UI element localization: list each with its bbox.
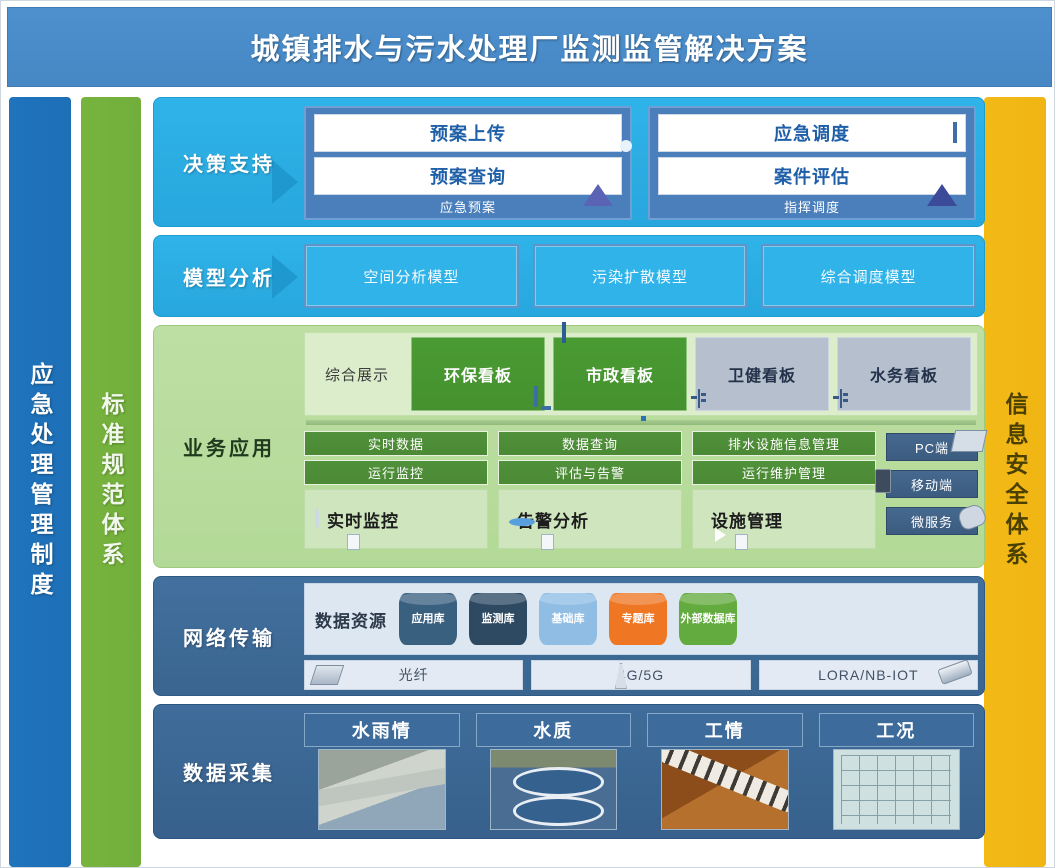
acquisition-card-operating-condition-label: 工况	[819, 713, 975, 747]
pill-realtime-data[interactable]: 实时数据	[304, 431, 488, 456]
pill-assessment-alarm[interactable]: 评估与告警	[498, 460, 682, 485]
window-icon	[562, 324, 566, 342]
document-badge-icon	[735, 534, 748, 550]
acquisition-card-engineering-label: 工情	[647, 713, 803, 747]
terminal-mobile-label: 移动端	[911, 475, 953, 494]
card-realtime-monitoring-label: 实时监控	[327, 507, 399, 532]
lora-icon	[937, 659, 973, 685]
group-command-dispatch: 应急调度 案件评估 指挥调度	[648, 106, 976, 220]
item-emergency-dispatch[interactable]: 应急调度	[658, 114, 966, 152]
globe-icon	[315, 510, 319, 528]
page-title-bar: 城镇排水与污水处理厂监测监管解决方案	[7, 7, 1052, 87]
kanban-environment-label: 环保看板	[444, 362, 512, 386]
kanban-municipal-label: 市政看板	[586, 362, 654, 386]
item-plan-query-label: 预案查询	[430, 163, 506, 189]
grid-icon	[953, 124, 957, 142]
card-realtime-monitoring[interactable]: 实时监控	[304, 489, 488, 549]
pill-drainage-facility-info[interactable]: 排水设施信息管理	[692, 431, 876, 456]
terminal-list: PC端 移动端 微服务	[886, 431, 978, 535]
pipeline-trench-photo	[661, 749, 789, 830]
sidebar-emergency-management: 应急处理管理制度	[9, 97, 71, 867]
architecture-stack: 决策支持 预案上传 预案查询 应急预案 应急调度	[153, 97, 985, 867]
db-basic[interactable]: 基础库	[539, 593, 597, 645]
kanban-health[interactable]: 卫健看板	[695, 337, 829, 411]
item-plan-upload[interactable]: 预案上传	[314, 114, 622, 152]
db-external[interactable]: 外部数据库	[679, 593, 737, 645]
db-application[interactable]: 应用库	[399, 593, 457, 645]
layer-label-decision-support: 决策支持	[154, 98, 304, 226]
biz-column-monitoring: 实时数据 运行监控 实时监控	[304, 431, 488, 549]
terminal-microservice-label: 微服务	[911, 512, 953, 531]
terminal-pc-label: PC端	[915, 438, 949, 457]
kanban-water-affairs[interactable]: 水务看板	[837, 337, 971, 411]
channel-lora-nbiot[interactable]: LORA/NB-IOT	[759, 660, 978, 690]
layer-decision-support: 决策支持 预案上传 预案查询 应急预案 应急调度	[153, 97, 985, 227]
sedimentation-tank-photo	[490, 749, 618, 830]
solution-architecture-diagram: 城镇排水与污水处理厂监测监管解决方案 应急处理管理制度 标准规范体系 信息安全体…	[0, 0, 1055, 868]
sidebar-information-security: 信息安全体系	[984, 97, 1046, 867]
acquisition-card-rainfall-label: 水雨情	[304, 713, 460, 747]
item-plan-query[interactable]: 预案查询	[314, 157, 622, 195]
mouse-icon	[956, 502, 988, 532]
pill-operation-monitoring[interactable]: 运行监控	[304, 460, 488, 485]
layer-data-acquisition: 数据采集 水雨情 水质 工情 工况	[153, 704, 985, 839]
page-title: 城镇排水与污水处理厂监测监管解决方案	[250, 26, 808, 68]
laptop-icon	[951, 430, 988, 452]
pill-data-query[interactable]: 数据查询	[498, 431, 682, 456]
item-case-assessment-label: 案件评估	[774, 163, 850, 189]
document-badge-icon	[347, 534, 360, 550]
data-resource-caption: 数据资源	[315, 607, 387, 632]
pill-operation-maintenance[interactable]: 运行维护管理	[692, 460, 876, 485]
db-thematic[interactable]: 专题库	[609, 593, 667, 645]
acquisition-card-operating-condition[interactable]: 工况	[819, 713, 975, 830]
model-spatial-analysis[interactable]: 空间分析模型	[304, 244, 519, 308]
terminal-microservice[interactable]: 微服务	[886, 507, 978, 535]
kanban-health-label: 卫健看板	[728, 362, 796, 386]
terminal-pc[interactable]: PC端	[886, 433, 978, 461]
sidebar-standards-system: 标准规范体系	[81, 97, 141, 867]
layer-label-network-transmission: 网络传输	[154, 577, 304, 695]
item-case-assessment[interactable]: 案件评估	[658, 157, 966, 195]
acquisition-card-engineering[interactable]: 工情	[647, 713, 803, 830]
pyramid-icon	[583, 167, 613, 185]
node-icon	[698, 390, 700, 408]
kanban-environment[interactable]: 环保看板	[411, 337, 545, 411]
acquisition-card-water-quality-label: 水质	[476, 713, 632, 747]
card-facility-management[interactable]: 设施管理	[692, 489, 876, 549]
kanban-municipal[interactable]: 市政看板	[553, 337, 687, 411]
channel-lora-nbiot-label: LORA/NB-IOT	[818, 667, 918, 683]
db-monitoring[interactable]: 监测库	[469, 593, 527, 645]
terminal-mobile[interactable]: 移动端	[886, 470, 978, 498]
pyramid-dark-icon	[927, 167, 957, 185]
layer-business-application: 业务应用 综合展示 环保看板 市政看板 卫健看板	[153, 325, 985, 568]
card-alarm-analysis[interactable]: 告警分析	[498, 489, 682, 549]
process-schematic-photo	[833, 749, 961, 830]
channel-fiber[interactable]: 光纤	[304, 660, 523, 690]
section-divider	[306, 420, 976, 425]
model-integrated-dispatch[interactable]: 综合调度模型	[761, 244, 976, 308]
item-plan-upload-label: 预案上传	[430, 120, 506, 146]
layer-label-model-analysis: 模型分析	[154, 236, 304, 316]
biz-column-alarm: 数据查询 评估与告警 告警分析	[498, 431, 682, 549]
layer-label-data-acquisition: 数据采集	[154, 705, 304, 838]
layer-model-analysis: 模型分析 空间分析模型 污染扩散模型 综合调度模型	[153, 235, 985, 317]
group-emergency-plan: 预案上传 预案查询 应急预案	[304, 106, 632, 220]
phone-icon	[875, 469, 891, 493]
river-channel-photo	[318, 749, 446, 830]
monitor-icon	[534, 388, 538, 406]
layer-network-transmission: 网络传输 数据资源 应用库 监测库 基础库 专题库 外部数据库 光纤	[153, 576, 985, 696]
overview-caption: 综合展示	[311, 364, 403, 385]
data-resource-row: 数据资源 应用库 监测库 基础库 专题库 外部数据库	[304, 583, 978, 655]
node-icon	[840, 390, 842, 408]
group-command-dispatch-caption: 指挥调度	[658, 200, 966, 216]
biz-column-facility: 排水设施信息管理 运行维护管理 设施管理	[692, 431, 876, 549]
group-emergency-plan-caption: 应急预案	[314, 200, 622, 216]
layer-label-business-application: 业务应用	[154, 326, 304, 567]
overview-dashboards-row: 综合展示 环保看板 市政看板 卫健看板 水务看板	[304, 332, 978, 416]
acquisition-card-water-quality[interactable]: 水质	[476, 713, 632, 830]
channel-fiber-label: 光纤	[399, 665, 429, 685]
acquisition-card-rainfall[interactable]: 水雨情	[304, 713, 460, 830]
item-emergency-dispatch-label: 应急调度	[774, 120, 850, 146]
model-pollution-diffusion[interactable]: 污染扩散模型	[533, 244, 748, 308]
channel-4g5g[interactable]: 4G/5G	[531, 660, 750, 690]
fiber-icon	[310, 665, 344, 685]
kanban-water-affairs-label: 水务看板	[870, 362, 938, 386]
document-badge-icon	[541, 534, 554, 550]
